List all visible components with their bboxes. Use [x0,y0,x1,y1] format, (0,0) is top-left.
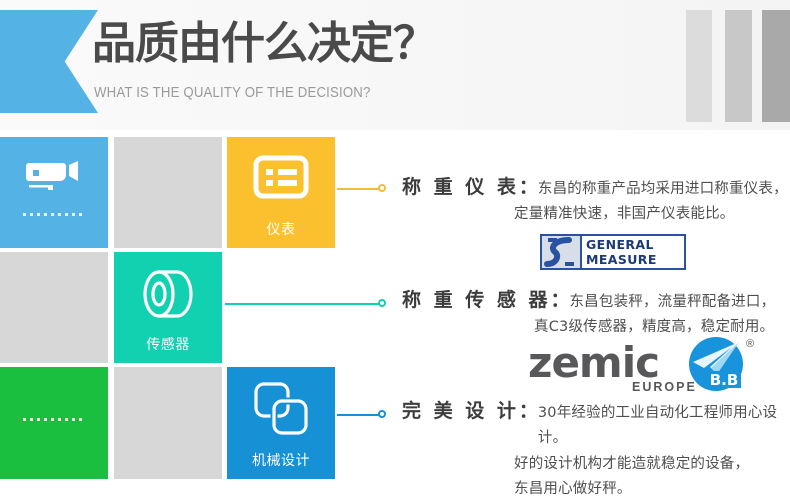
page-subtitle: WHAT IS THE QUALITY OF THE DECISION? [94,84,370,101]
connector-line-design [337,414,385,416]
tile-label-sensor: 传感器 [114,334,222,354]
general-measure-emblem-icon [542,236,582,268]
feature-body-line-2: 好的设计机构才能造就稳定的设备， [402,452,790,477]
feature-heading-meter: 称 重 仪 表 [402,172,519,199]
feature-heading-colon: ： [550,285,569,312]
zemic-registered-mark: ® [746,338,754,350]
page-title: 品质由什么决定？ [92,18,436,70]
feature-body-line-1: 东昌包装秤，流量秤配备进口， [569,290,775,315]
feature-block-headline-row: 完 美 设 计：30年经验的工业自动化工程师用心设计。 [402,396,790,452]
tile-blank-2 [0,252,108,363]
feature-block-design: 完 美 设 计：30年经验的工业自动化工程师用心设计。 好的设计机构才能造就稳定… [402,396,790,503]
connector-line-meter [337,188,385,190]
zemic-europe-logo: zemic EUROPE B.B ® [528,336,778,392]
load-cell-cylinder-icon [114,268,222,320]
general-measure-line-1: GENERAL [586,237,684,252]
feature-body-line-1: 30年经验的工业自动化工程师用心设计。 [538,401,790,452]
general-measure-logo: GENERAL MEASURE [540,234,686,270]
feature-heading-design: 完 美 设 计 [402,396,519,423]
feature-tile-grid: 仪表 传感器 机械设计 [0,137,340,489]
tile-meter[interactable]: 仪表 [227,137,335,248]
connector-stroke [225,303,385,305]
feature-block-headline-row: 称 重 传 感 器：东昌包装秤，流量秤配备进口， [402,285,775,315]
feature-heading-colon: ： [519,172,538,199]
tile-green[interactable] [0,367,108,479]
feature-block-sensor: 称 重 传 感 器：东昌包装秤，流量秤配备进口， 真C3级传感器，精度高，稳定耐… [402,285,775,341]
feature-body-line-3: 东昌用心做好秤。 [402,477,790,502]
feature-body-line-2: 定量精准快速，非国产仪表能比。 [402,202,788,227]
tile-sensor[interactable]: 传感器 [114,252,222,363]
svg-text:B.B: B.B [710,371,739,389]
page-header: 品质由什么决定？ WHAT IS THE QUALITY OF THE DECI… [0,0,790,130]
tile-dotted-line [23,418,85,421]
zemic-arrow-emblem-icon: B.B [686,336,746,392]
tile-label-design: 机械设计 [227,450,335,470]
connector-endpoint-dot [378,410,386,418]
header-stripe-1 [686,10,712,122]
tile-label-meter: 仪表 [227,219,335,239]
tile-blank-1 [114,137,222,248]
header-stripe-2 [725,10,752,122]
feature-heading-colon: ： [519,396,538,423]
tile-blank-3 [114,367,222,479]
feature-block-meter: 称 重 仪 表：东昌的称重产品均采用进口称重仪表， 定量精准快速，非国产仪表能比… [402,172,788,228]
tile-dotted-line [23,213,85,216]
feature-block-headline-row: 称 重 仪 表：东昌的称重产品均采用进口称重仪表， [402,172,788,202]
feature-body-line-1: 东昌的称重产品均采用进口称重仪表， [538,177,788,202]
security-camera-icon [0,157,108,197]
feature-heading-sensor: 称 重 传 感 器 [402,285,550,312]
connector-endpoint-dot [378,299,386,307]
general-measure-line-2: MEASURE [586,252,684,267]
header-stripe-3 [762,10,790,122]
connector-endpoint-dot [378,184,386,192]
connector-line-sensor [225,303,385,305]
overlapping-squares-icon [227,381,335,437]
tile-design[interactable]: 机械设计 [227,367,335,479]
general-measure-wordmark: GENERAL MEASURE [582,236,684,268]
tile-camera[interactable] [0,137,108,248]
list-form-icon [227,155,335,199]
